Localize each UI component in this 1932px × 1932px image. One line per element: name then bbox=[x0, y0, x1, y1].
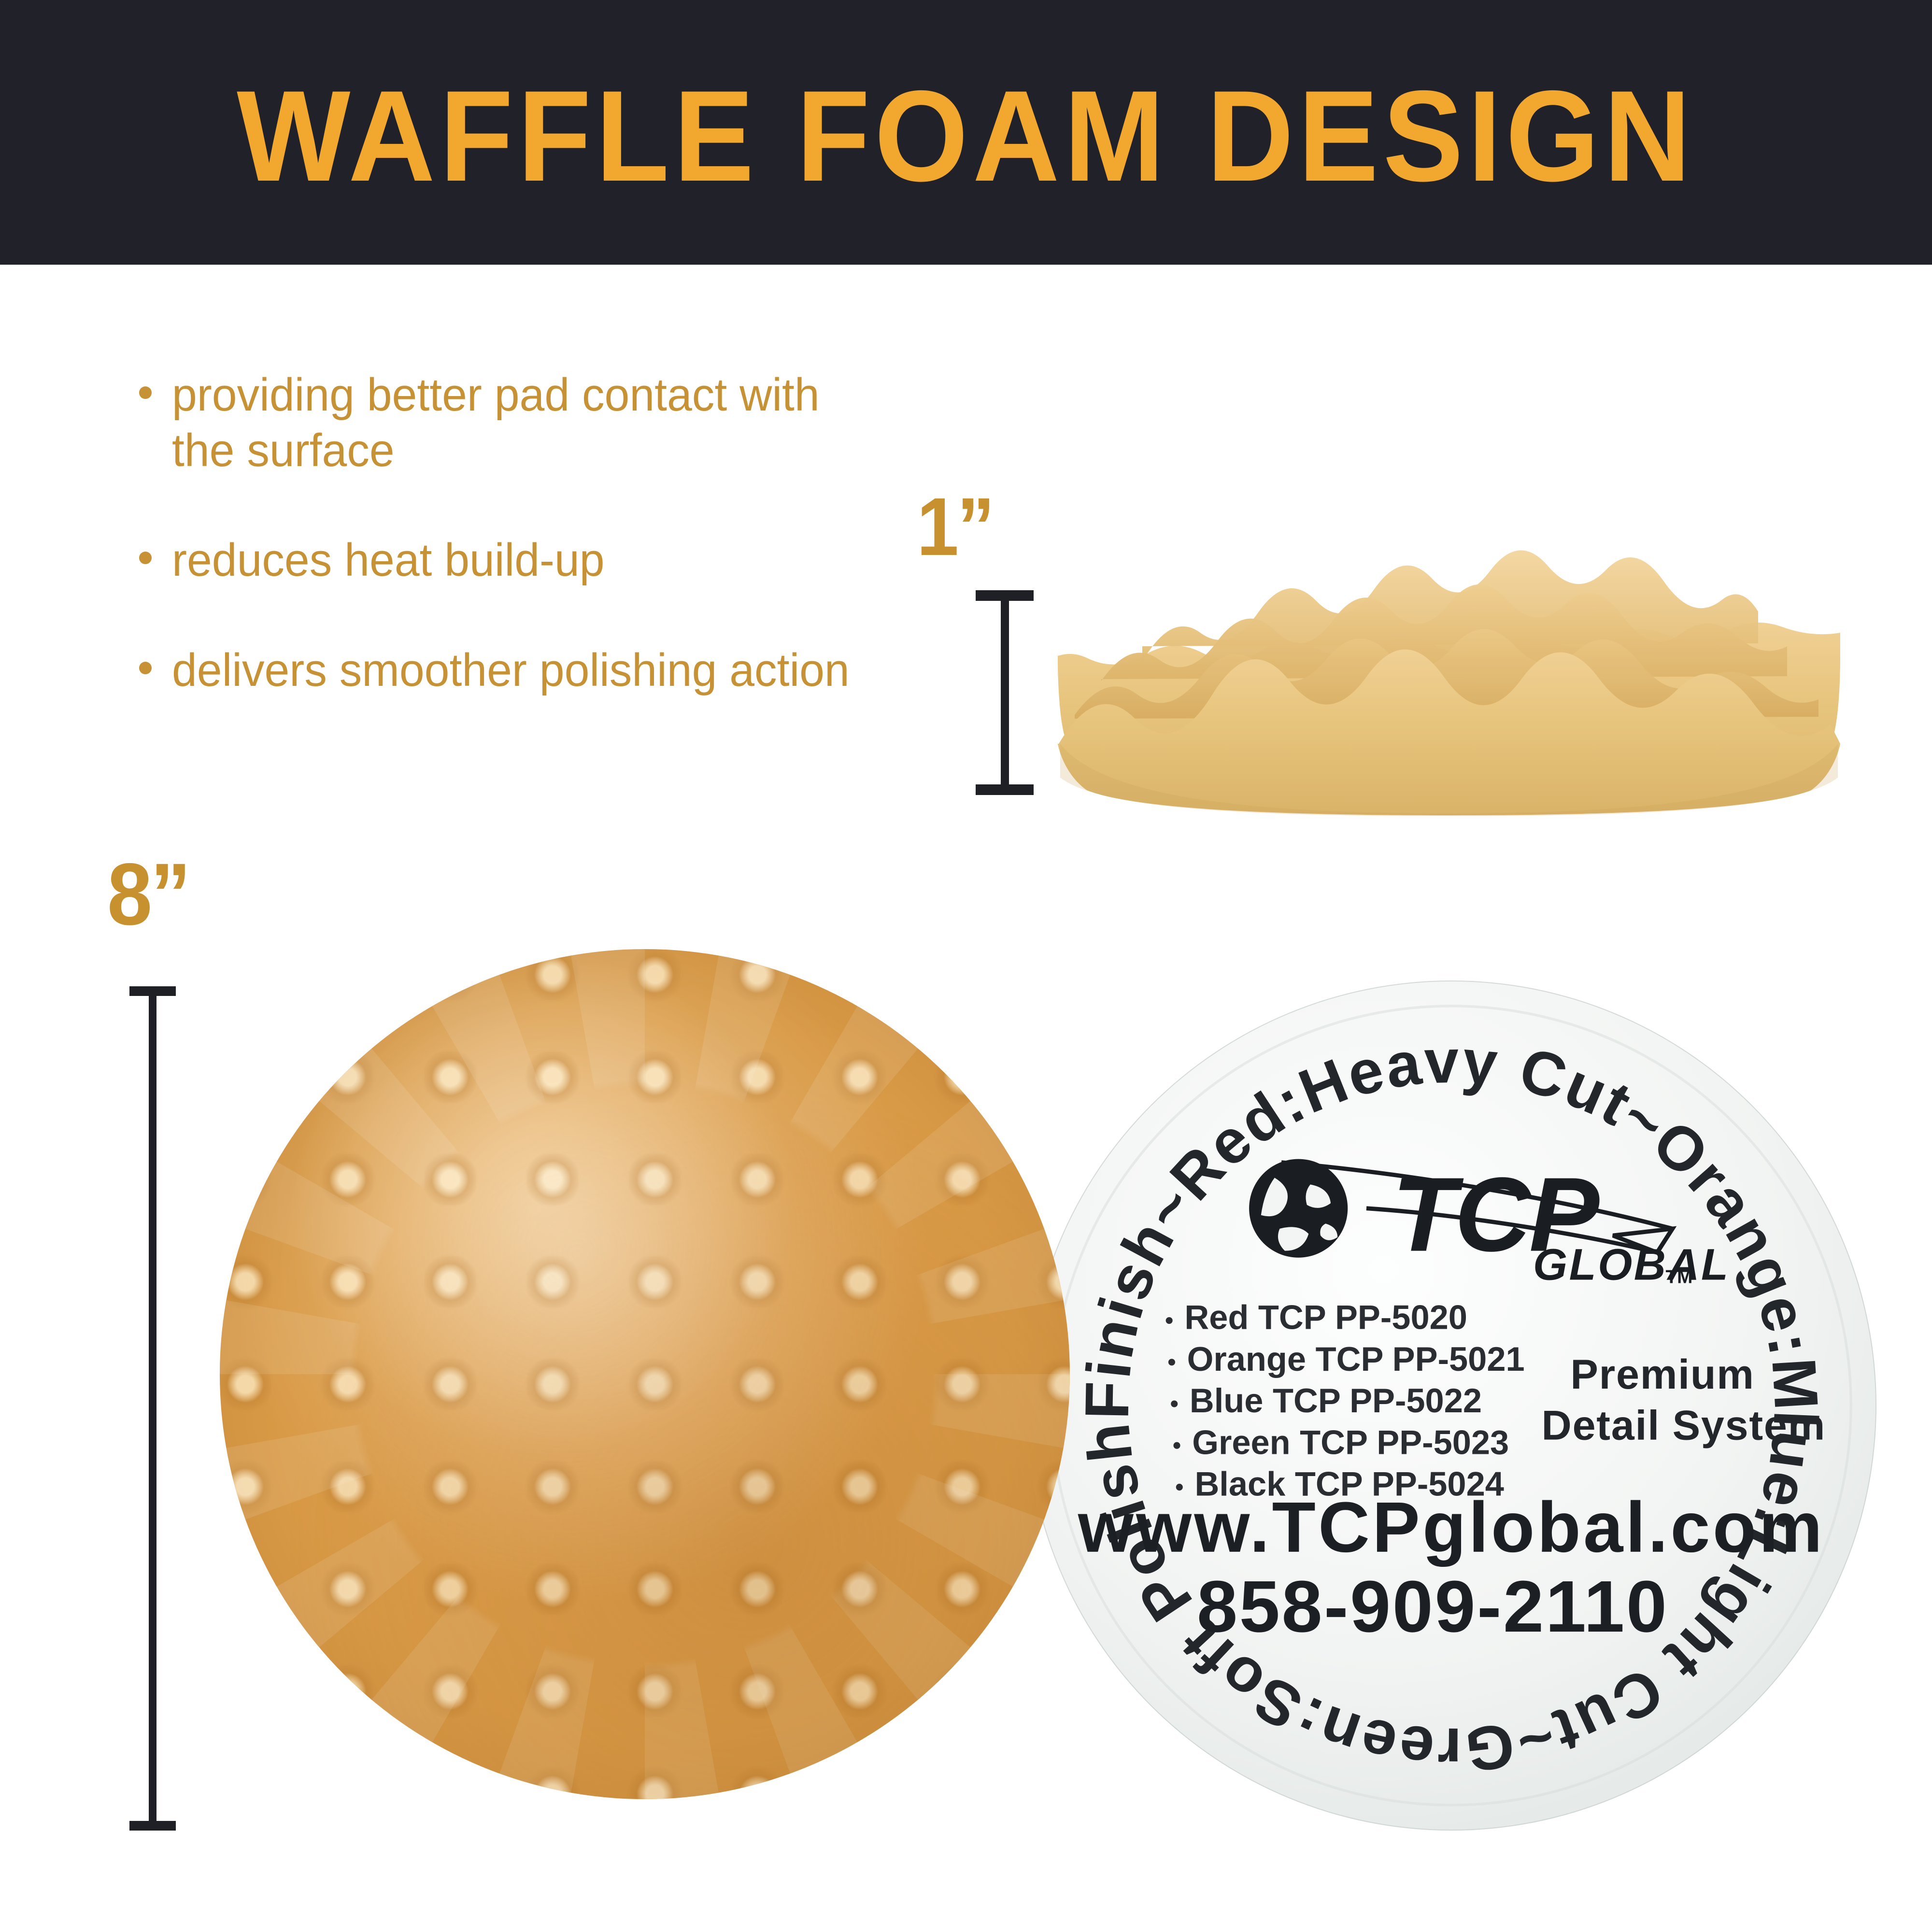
waffle-pad-white-back-image: Black:FinalFinish~Red:Heavy Cut~Orange:M… bbox=[1026, 980, 1876, 1831]
list-item: delivers smoother polishing action bbox=[139, 642, 873, 698]
phone-number: 858-909-2110 bbox=[1197, 1566, 1669, 1648]
thickness-dimension-label: 1” bbox=[917, 486, 993, 568]
pad-shading-overlay bbox=[220, 949, 1070, 1799]
globe-icon bbox=[1249, 1159, 1348, 1258]
infographic-page: WAFFLE FOAM DESIGN providing better pad … bbox=[0, 0, 1932, 1932]
header-banner: WAFFLE FOAM DESIGN bbox=[0, 0, 1932, 265]
brand-subname: GLOBAL bbox=[1533, 1240, 1730, 1290]
bullet-dot-icon bbox=[139, 552, 152, 564]
product-code: Orange TCP PP-5021 bbox=[1187, 1340, 1525, 1378]
feature-list: providing better pad contact with the su… bbox=[139, 367, 873, 752]
diameter-dimension-label: 8” bbox=[107, 850, 189, 938]
bullet-dot-icon bbox=[139, 386, 152, 399]
tagline-line-2: Detail System bbox=[1542, 1402, 1826, 1449]
product-code: Green TCP PP-5023 bbox=[1192, 1423, 1509, 1461]
thickness-measure-rule-icon bbox=[976, 590, 1034, 795]
bullet-dot-icon bbox=[139, 662, 152, 674]
tagline-line-1: Premium bbox=[1570, 1351, 1754, 1398]
product-code-list: Red TCP PP-5020 Orange TCP PP-5021 Blue … bbox=[1166, 1298, 1525, 1503]
list-item: reduces heat build-up bbox=[139, 532, 873, 588]
feature-text: reduces heat build-up bbox=[172, 532, 605, 588]
feature-text: delivers smoother polishing action bbox=[172, 642, 850, 698]
trademark-mark: TM bbox=[1666, 1267, 1693, 1288]
waffle-pad-side-view-image bbox=[1038, 517, 1860, 821]
website-url: www.TCPglobal.com bbox=[1078, 1488, 1825, 1567]
page-title: WAFFLE FOAM DESIGN bbox=[68, 0, 1864, 265]
list-item: providing better pad contact with the su… bbox=[139, 367, 873, 478]
product-code: Blue TCP PP-5022 bbox=[1190, 1381, 1482, 1420]
tcp-global-logo: TCP GLOBAL TM bbox=[1249, 1156, 1730, 1290]
waffle-pad-orange-face-image bbox=[220, 949, 1070, 1799]
product-code: Red TCP PP-5020 bbox=[1184, 1298, 1467, 1336]
diameter-measure-rule-icon bbox=[129, 986, 176, 1831]
feature-text: providing better pad contact with the su… bbox=[172, 367, 852, 478]
